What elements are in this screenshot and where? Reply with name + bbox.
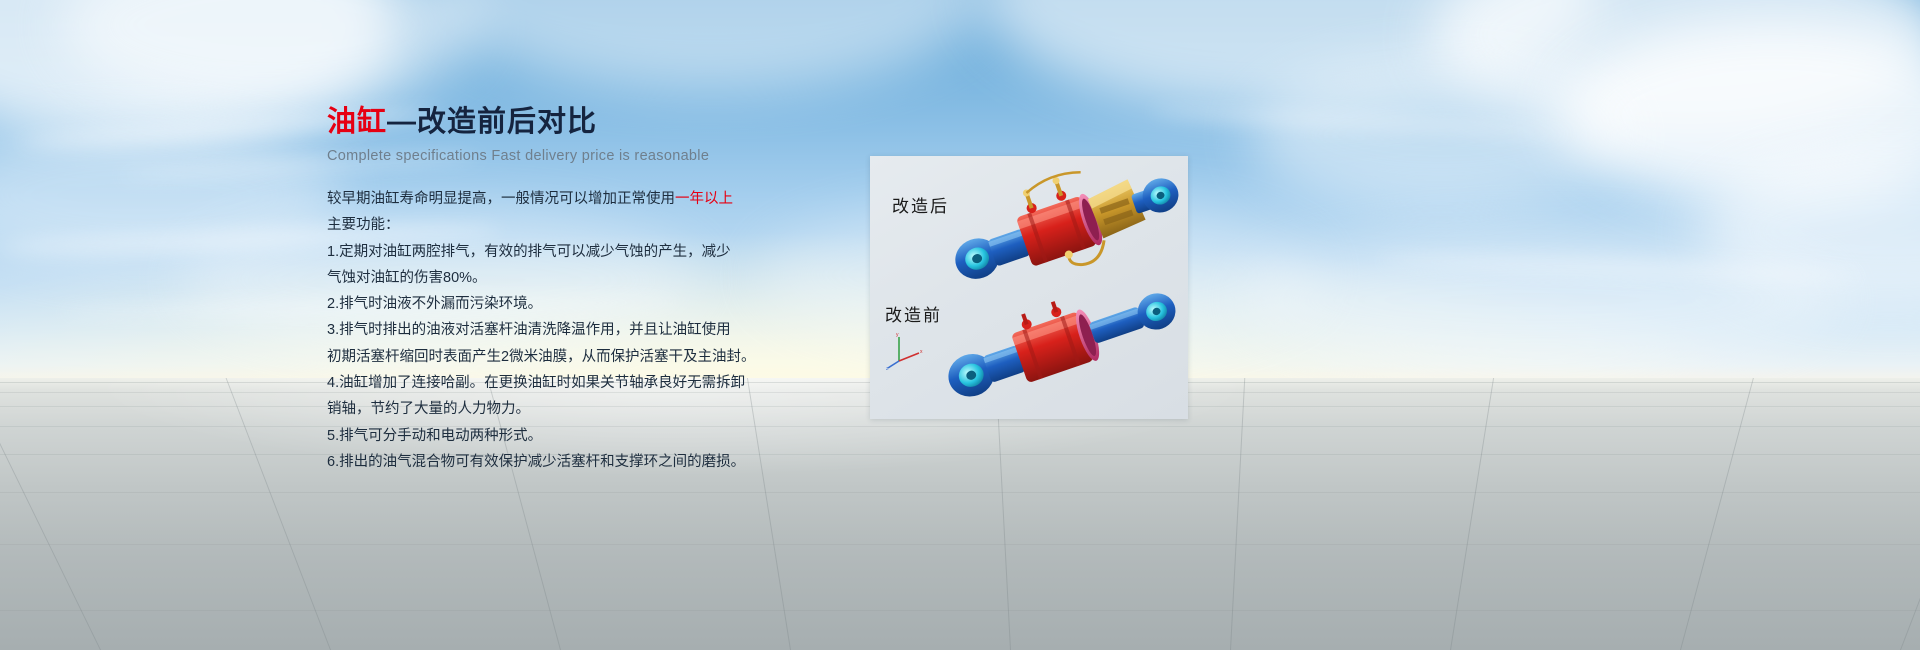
cylinder-after-illustration [948,168,1184,288]
body-line-text: 气蚀对油缸的伤害80%。 [327,270,487,286]
cloud-decor [1430,0,1920,140]
body-line: 主要功能： [327,212,757,238]
cloud-decor [0,120,340,270]
body-line-text: 初期活塞杆缩回时表面产生2微米油膜，从而保护活塞干及主油封。 [327,349,756,365]
page-subtitle: Complete specifications Fast delivery pr… [327,148,757,164]
cloud-decor [430,0,990,90]
body-line: 较早期油缸寿命明显提高，一般情况可以增加正常使用一年以上 [327,186,757,212]
cloud-decor [60,0,480,110]
body-line: 6.排出的油气混合物可有效保护减少活塞杆和支撑环之间的磨损。 [327,449,757,475]
ground-line [0,454,1920,455]
feature-list: 较早期油缸寿命明显提高，一般情况可以增加正常使用一年以上 主要功能： 1.定期对… [327,186,757,475]
body-line-text: 4.油缸增加了连接哈副。在更换油缸时如果关节轴承良好无需拆卸 [327,375,745,391]
hero-text-block: 油缸—改造前后对比 Complete specifications Fast d… [327,105,757,475]
body-line-text: 主要功能： [327,217,400,233]
body-line-text: 6.排出的油气混合物可有效保护减少活塞杆和支撑环之间的磨损。 [327,454,745,470]
body-line-text: 2.排气时油液不外漏而污染环境。 [327,296,542,312]
hero-banner: 油缸—改造前后对比 Complete specifications Fast d… [0,0,1920,650]
ground-line [0,610,1920,611]
body-line: 2.排气时油液不外漏而污染环境。 [327,291,757,317]
cylinder-before-illustration [940,281,1184,407]
cloud-decor [980,0,1600,110]
body-line: 4.油缸增加了连接哈副。在更换油缸时如果关节轴承良好无需拆卸 [327,370,757,396]
body-line-text: 5.排气可分手动和电动两种形式。 [327,428,542,444]
body-line-text: 3.排气时排出的油液对活塞杆油清洗降温作用，并且让油缸使用 [327,322,731,338]
page-title: 油缸—改造前后对比 [327,105,757,139]
body-line: 5.排气可分手动和电动两种形式。 [327,423,757,449]
body-line: 初期活塞杆缩回时表面产生2微米油膜，从而保护活塞干及主油封。 [327,344,757,370]
body-line: 3.排气时排出的油液对活塞杆油清洗降温作用，并且让油缸使用 [327,317,757,343]
body-line: 销轴，节约了大量的人力物力。 [327,396,757,422]
body-line: 1.定期对油缸两腔排气，有效的排气可以减少气蚀的产生，减少 [327,239,757,265]
body-line-text: 1.定期对油缸两腔排气，有效的排气可以减少气蚀的产生，减少 [327,244,731,260]
body-line: 气蚀对油缸的伤害80%。 [327,265,757,291]
title-rest: —改造前后对比 [387,106,597,138]
coordinate-axis-icon: y x z [886,331,926,371]
body-line-highlight: 一年以上 [675,191,733,207]
cloud-decor [1560,20,1920,210]
body-line-text: 销轴，节约了大量的人力物力。 [327,401,530,417]
ground-line [0,544,1920,545]
ground-line [0,492,1920,493]
title-highlight: 油缸 [327,106,387,138]
cloud-wisp [1380,252,1860,285]
cloud-wisp [1150,104,1570,140]
cloud-decor [1240,230,1840,370]
svg-text:x: x [920,349,923,355]
cloud-decor [1700,150,1920,310]
product-image-panel[interactable]: 改造后 改造前 y x z [870,156,1188,419]
label-before-modification: 改造前 [885,301,942,326]
body-line-text: 较早期油缸寿命明显提高，一般情况可以增加正常使用 [327,191,675,207]
label-after-modification: 改造后 [892,192,949,217]
ground-line [0,426,1920,427]
cloud-decor [1250,60,1630,210]
